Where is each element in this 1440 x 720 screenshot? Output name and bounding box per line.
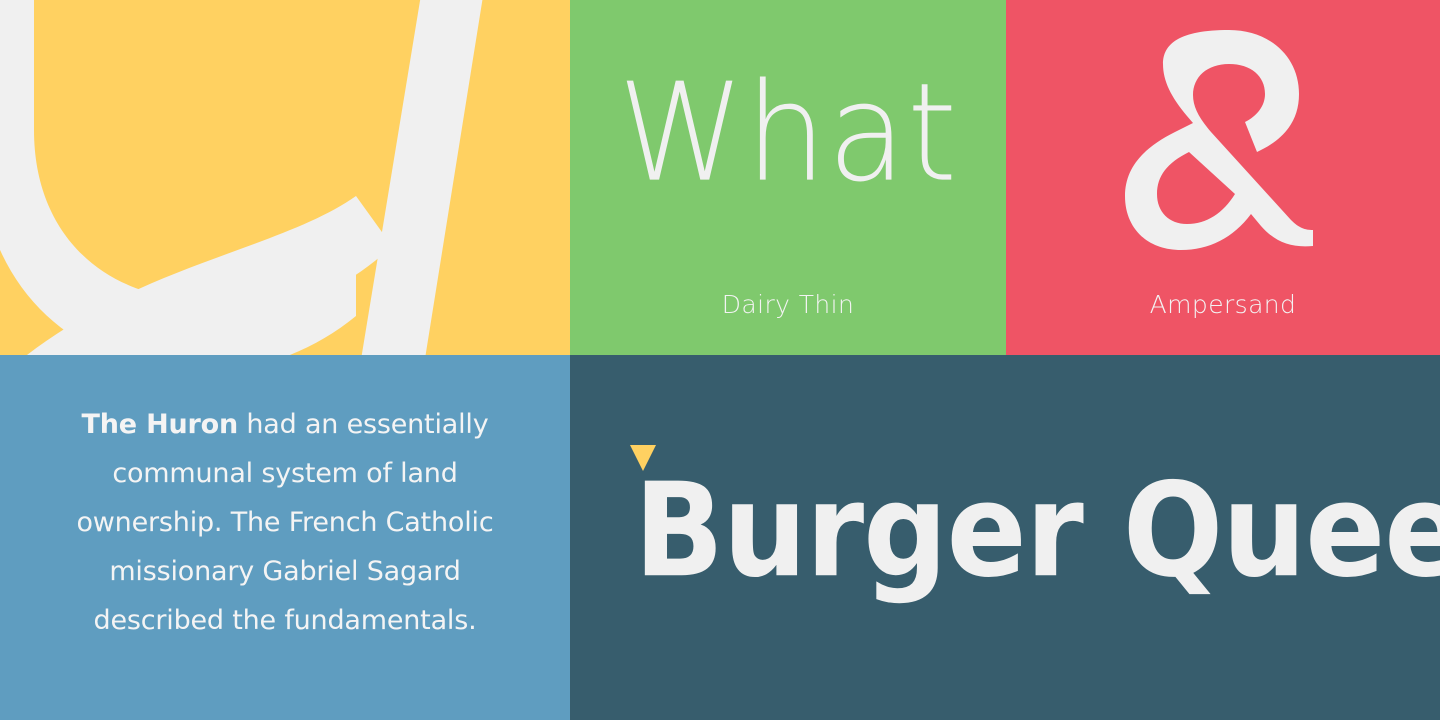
- font-specimen-sheet: What Dairy Thin Ampersand The Huron had …: [0, 0, 1440, 720]
- paragraph-lead: The Huron: [82, 409, 238, 440]
- ampersand-icon: [1123, 22, 1323, 252]
- headline-text: Burger Queen: [634, 463, 1424, 599]
- ampersand-glyph-wrap: [1006, 0, 1440, 268]
- ampersand-panel: Ampersand: [1006, 0, 1440, 355]
- ampersand-caption: Ampersand: [1006, 290, 1440, 319]
- paragraph-text: The Huron had an essentially communal sy…: [59, 400, 511, 645]
- paragraph-rest: had an essentially communal system of la…: [76, 409, 493, 636]
- lowercase-y-crop-icon: [0, 0, 570, 355]
- display-glyph-panel: [0, 0, 570, 355]
- paragraph-panel: The Huron had an essentially communal sy…: [0, 355, 570, 720]
- thin-sample-word-wrap: What: [570, 0, 1006, 268]
- headline-panel: Burger Queen: [570, 355, 1440, 720]
- thin-sample-caption: Dairy Thin: [570, 290, 1006, 319]
- thin-sample-word: What: [618, 66, 958, 202]
- thin-weight-panel: What Dairy Thin: [570, 0, 1006, 355]
